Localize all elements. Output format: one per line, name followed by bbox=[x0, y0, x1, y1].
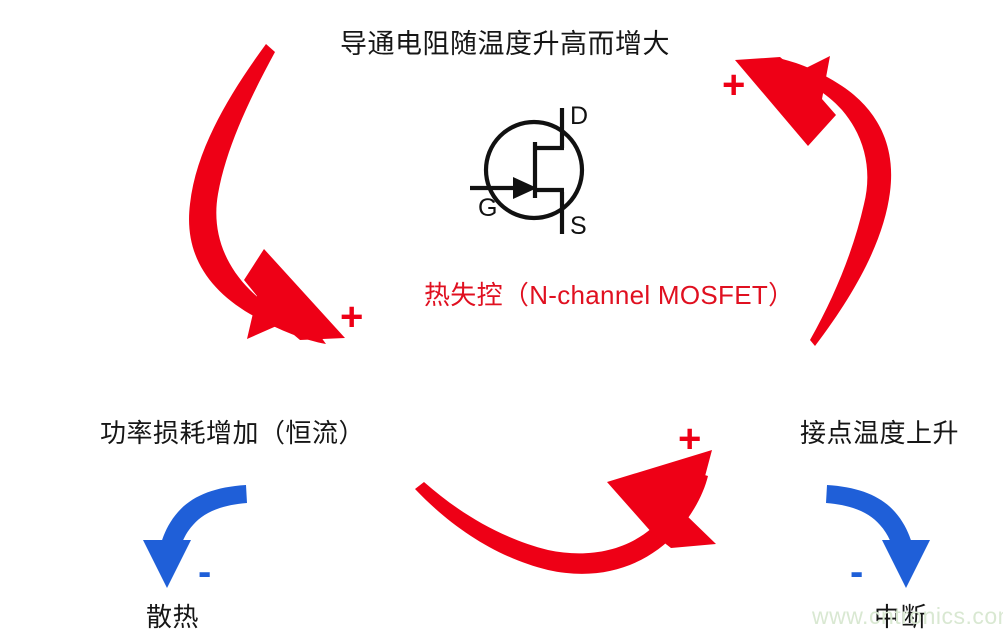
mosfet-drain-label: D bbox=[570, 104, 588, 129]
site-watermark: www.cntronics.com bbox=[812, 605, 1003, 628]
mosfet-gate-label: G bbox=[478, 196, 497, 221]
diagram-title: 导通电阻随温度升高而增大 bbox=[340, 31, 670, 58]
arrow-bottom-right bbox=[826, 485, 930, 588]
sign-minus-bottom-left: - bbox=[198, 552, 211, 592]
arrow-bottom-left bbox=[143, 485, 247, 588]
sign-plus-top-left: + bbox=[340, 297, 363, 337]
sign-plus-top-right: + bbox=[722, 65, 745, 105]
diagram-canvas bbox=[0, 0, 1003, 638]
arrow-top-left bbox=[189, 44, 345, 344]
mosfet-source-label: S bbox=[570, 214, 587, 239]
node-label-junction-temperature: 接点温度上升 bbox=[800, 420, 959, 446]
sign-plus-bottom-center: + bbox=[678, 419, 701, 459]
node-label-power-loss: 功率损耗增加（恒流） bbox=[100, 420, 365, 446]
sign-minus-bottom-right: - bbox=[850, 552, 863, 592]
node-label-heat-dissipation: 散热 bbox=[146, 604, 199, 630]
arrow-bottom-center bbox=[415, 450, 716, 574]
center-thermal-runaway-label: 热失控（N-channel MOSFET） bbox=[424, 282, 794, 308]
